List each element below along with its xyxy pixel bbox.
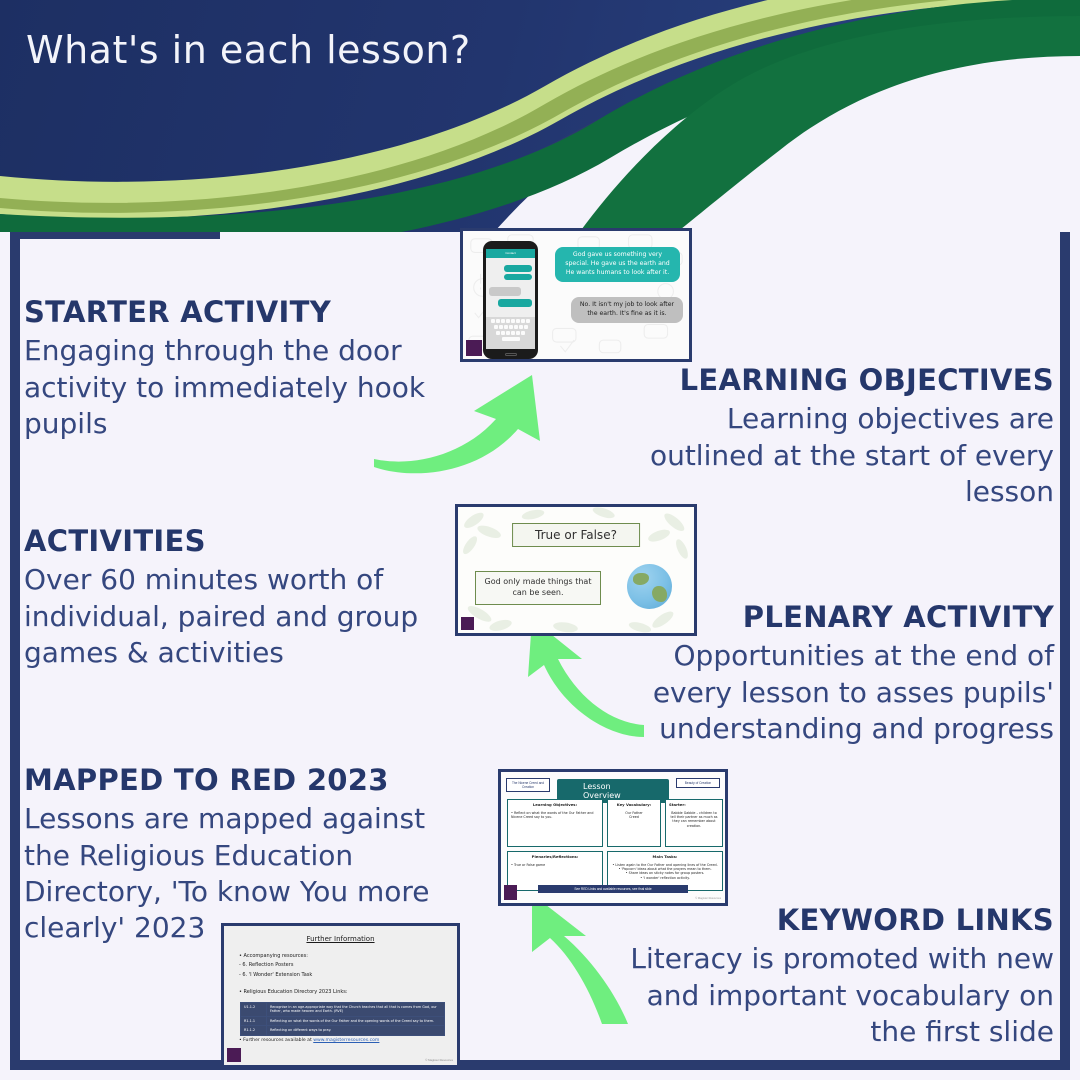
cell-body: Babble Gabble – children to tell their p… [669, 811, 719, 828]
cell-body: Our Father Creed [625, 811, 642, 819]
list-item: - 6. Reflection Posters [239, 961, 439, 970]
phone-keyboard [486, 317, 535, 349]
heading-mapped-to-red-2023: MAPPED TO RED 2023 [24, 763, 464, 797]
globe-earth-icon [627, 564, 672, 609]
text-block-plenary-activity: PLENARY ACTIVITY Opportunities at the en… [634, 600, 1054, 747]
body-keyword-links: Literacy is promoted with new and import… [604, 941, 1054, 1050]
overview-cell-learning-objectives: Learning Objectives: • Reflect on what t… [507, 799, 603, 847]
body-plenary-activity: Opportunities at the end of every lesson… [634, 638, 1054, 747]
overview-tag-left: The Nicene Creed and Creation [506, 778, 550, 792]
cell-title: Key Vocabulary: [611, 803, 657, 808]
cell-body: • Listen again to the Our Father and ope… [611, 863, 719, 880]
phone-bubble-out [504, 265, 532, 272]
further-information-subheading: • Religious Education Directory 2023 Lin… [239, 989, 348, 995]
further-resources-note: • Further resources available at www.mag… [239, 1038, 379, 1043]
phone-mockup: Contact [483, 241, 538, 359]
table-cell-code: R1.1.1 [241, 1016, 267, 1025]
overview-cell-starter: Starter: Babble Gabble – children to tel… [665, 799, 723, 847]
table-row: R1.1.2 Reflecting on different ways to p… [241, 1026, 445, 1035]
overview-credit: © Magister Resources [695, 897, 721, 900]
cell-title: Starter: [669, 803, 719, 808]
text-block-mapped-to-red-2023: MAPPED TO RED 2023 Lessons are mapped ag… [24, 763, 464, 947]
cell-title: Main Tasks: [611, 855, 719, 860]
phone-bubble-out [504, 274, 532, 280]
phone-bubble-out [498, 299, 532, 307]
heading-starter-activity: STARTER ACTIVITY [24, 295, 454, 329]
true-or-false-slide-thumbnail[interactable]: True or False? God only made things that… [455, 504, 697, 636]
table-row: U1.1.2 Recognise in an age-appropriate w… [241, 1003, 445, 1017]
body-activities: Over 60 minutes worth of individual, pai… [24, 562, 444, 671]
heading-plenary-activity: PLENARY ACTIVITY [634, 600, 1054, 634]
list-item: - 6. 'I Wonder' Extension Task [239, 971, 439, 980]
table-cell-text: Recognise in an age-appropriate way that… [267, 1003, 445, 1017]
phone-home-button [505, 353, 517, 356]
overview-footer-note: See RED Links and available resources, s… [538, 885, 688, 893]
magister-resources-link[interactable]: www.magisterresources.com [313, 1038, 379, 1043]
magister-logo-icon [227, 1048, 241, 1062]
phone-bubble-in [489, 287, 521, 296]
magister-logo-icon [504, 885, 517, 900]
magister-logo-icon [461, 617, 474, 630]
table-row: R1.1.1 Reflecting on what the words of t… [241, 1016, 445, 1025]
heading-learning-objectives: LEARNING OBJECTIVES [634, 363, 1054, 397]
further-information-credit: © Magister Resources [425, 1058, 453, 1062]
body-learning-objectives: Learning objectives are outlined at the … [634, 401, 1054, 510]
text-block-learning-objectives: LEARNING OBJECTIVES Learning objectives … [634, 363, 1054, 510]
phone-screen: Contact [486, 249, 535, 349]
list-item: • Accompanying resources: [239, 952, 439, 961]
overview-tag-right: Beauty of Creation [676, 778, 720, 788]
slide-canvas: What's in each lesson? STARTER ACTIVITY … [0, 0, 1080, 1080]
frame-top-accent [10, 232, 220, 239]
overview-cell-key-vocabulary: Key Vocabulary: Our Father Creed [607, 799, 661, 847]
table-cell-text: Reflecting on what the words of the Our … [267, 1016, 445, 1025]
lesson-overview-slide-thumbnail[interactable]: The Nicene Creed and Creation Lesson Ove… [498, 769, 728, 906]
speech-bubble-teal: God gave us something very special. He g… [555, 247, 680, 282]
true-or-false-statement: God only made things that can be seen. [475, 571, 601, 605]
text-block-activities: ACTIVITIES Over 60 minutes worth of indi… [24, 524, 444, 671]
speech-bubble-grey: No. It isn't my job to look after the ea… [571, 297, 683, 323]
slide-background [224, 926, 457, 1065]
magister-logo-icon [466, 340, 482, 356]
further-information-slide-thumbnail[interactable]: Further Information • Accompanying resou… [221, 923, 460, 1068]
table-cell-text: Reflecting on different ways to pray. [267, 1026, 445, 1035]
text-block-keyword-links: KEYWORD LINKS Literacy is promoted with … [604, 903, 1054, 1050]
table-cell-code: U1.1.2 [241, 1003, 267, 1017]
text-block-starter-activity: STARTER ACTIVITY Engaging through the do… [24, 295, 454, 442]
red-links-table: U1.1.2 Recognise in an age-appropriate w… [240, 1002, 445, 1036]
cell-body: • Reflect on what the words of the Our F… [511, 811, 593, 819]
further-information-title: Further Information [306, 935, 374, 943]
starter-activity-slide-thumbnail[interactable]: Contact God gave us something very speci… [460, 228, 692, 362]
phone-contact-bar: Contact [486, 249, 535, 258]
heading-activities: ACTIVITIES [24, 524, 444, 558]
cell-title: Learning Objectives: [511, 803, 599, 808]
cell-body: • True or False game [511, 863, 545, 867]
heading-keyword-links: KEYWORD LINKS [604, 903, 1054, 937]
page-title: What's in each lesson? [26, 28, 471, 72]
header-band: What's in each lesson? [0, 0, 1080, 232]
body-starter-activity: Engaging through the door activity to im… [24, 333, 454, 442]
true-or-false-title: True or False? [512, 523, 640, 547]
further-resources-prefix: • Further resources available at [239, 1038, 313, 1043]
phone-contact-label: Contact [486, 249, 535, 258]
table-cell-code: R1.1.2 [241, 1026, 267, 1035]
further-information-list: • Accompanying resources: - 6. Reflectio… [239, 952, 439, 980]
cell-title: Plenaries/Reflections: [511, 855, 599, 860]
